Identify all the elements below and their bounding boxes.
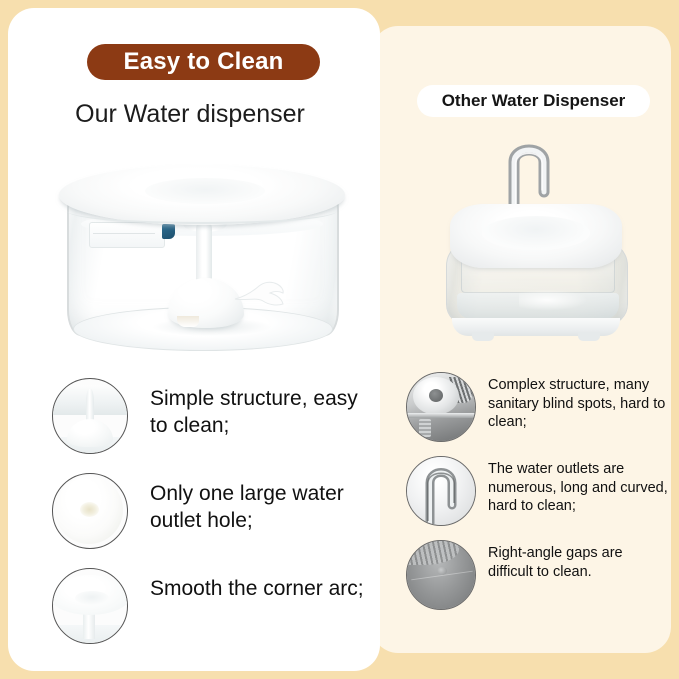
list-item: Complex structure, many sanitary blind s… (406, 372, 668, 442)
list-item: The water outlets are numerous, long and… (406, 456, 668, 526)
feature-thumb-simple-structure (52, 378, 128, 454)
other-water-dispenser-badge-label: Other Water Dispenser (442, 91, 626, 111)
feature-text: Only one large water outlet hole; (128, 473, 372, 535)
list-item: Right-angle gaps are difficult to clean. (406, 540, 668, 610)
feature-thumb-single-outlet (52, 473, 128, 549)
comparison-infographic: Easy to Clean Our Water dispenser (0, 0, 679, 679)
our-dispenser-image (57, 160, 347, 355)
whale-tail-icon (233, 281, 285, 307)
base-foot-left (472, 333, 494, 341)
feature-text: Simple structure, easy to clean; (128, 378, 372, 440)
feature-text: Complex structure, many sanitary blind s… (476, 372, 668, 432)
other-water-dispenser-badge: Other Water Dispenser (417, 85, 650, 117)
list-item: Simple structure, easy to clean; (52, 378, 372, 454)
our-dispenser-feature-list: Simple structure, easy to clean; Only on… (52, 378, 372, 663)
our-water-dispenser-title: Our Water dispenser (0, 100, 380, 129)
list-item: Only one large water outlet hole; (52, 473, 372, 549)
base-foot-right (578, 333, 600, 341)
feature-text: Smooth the corner arc; (128, 568, 364, 603)
filter-cartridge (89, 222, 165, 248)
feature-text: The water outlets are numerous, long and… (476, 456, 668, 516)
blue-pump-indicator (162, 224, 175, 239)
other-dispenser-feature-list: Complex structure, many sanitary blind s… (406, 372, 668, 624)
feature-thumb-corner-arc (52, 568, 128, 644)
other-dispenser-image (438, 136, 633, 348)
feature-text: Right-angle gaps are difficult to clean. (476, 540, 668, 581)
feature-thumb-right-angle-gaps (406, 540, 476, 610)
water-highlight (519, 289, 589, 311)
feature-thumb-complex-structure (406, 372, 476, 442)
feature-thumb-curved-outlets (406, 456, 476, 526)
easy-to-clean-badge: Easy to Clean (87, 44, 320, 80)
easy-to-clean-badge-label: Easy to Clean (124, 48, 284, 76)
filter-seam (93, 233, 155, 234)
fountain-lid-dip (482, 216, 590, 250)
list-item: Smooth the corner arc; (52, 568, 372, 644)
lid-rim (67, 198, 337, 224)
whale-mouth-notch (177, 316, 199, 327)
